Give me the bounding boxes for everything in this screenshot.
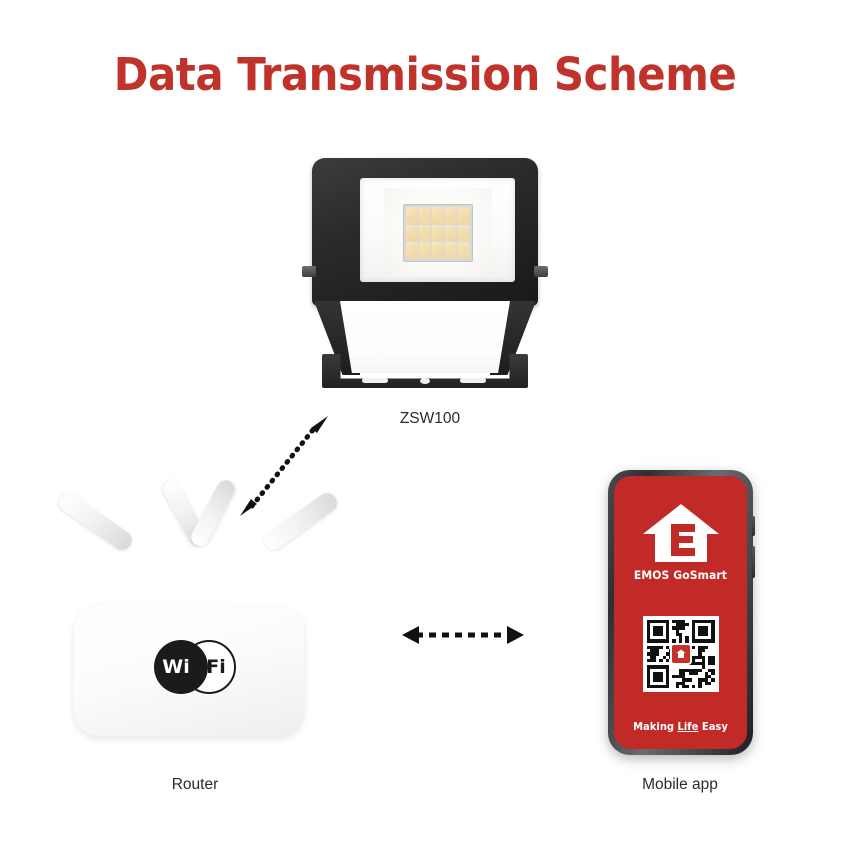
- bracket-slot-center: [420, 378, 430, 384]
- diagram-canvas: Data Transmission Scheme ZSW100: [0, 0, 850, 850]
- router-device: Fi Wi: [38, 528, 348, 768]
- wifi-logo-left-circle: Wi: [154, 640, 208, 694]
- phone-volume-button[interactable]: [752, 516, 755, 536]
- phone-power-button[interactable]: [752, 546, 755, 578]
- floodlight-lens: [360, 178, 515, 282]
- tagline-part-2: Easy: [698, 721, 727, 733]
- page-title: Data Transmission Scheme: [30, 48, 821, 101]
- phone-caption: Mobile app: [600, 776, 760, 794]
- app-name-label: EMOS GoSmart: [618, 568, 743, 582]
- connection-router-to-floodlight: [236, 412, 332, 520]
- floodlight-caption: ZSW100: [330, 410, 530, 428]
- router-antenna-1: [56, 490, 136, 554]
- floodlight-housing: [312, 158, 538, 306]
- floodlight-body-front: [340, 301, 510, 373]
- floodlight-screw-right: [534, 266, 548, 277]
- tagline-part-1: Making: [633, 721, 677, 733]
- floodlight-screw-left: [302, 266, 316, 277]
- connection-router-to-phone: [400, 618, 526, 652]
- floodlight-device: [300, 158, 550, 398]
- mobile-phone-device[interactable]: EMOS GoSmart Making Life Easy: [608, 470, 753, 755]
- floodlight-led-array: [403, 204, 473, 262]
- bracket-slot-right: [460, 378, 486, 383]
- phone-screen[interactable]: EMOS GoSmart Making Life Easy: [614, 476, 747, 749]
- router-caption: Router: [110, 776, 280, 794]
- emos-house-logo-icon: [641, 502, 721, 564]
- qr-code[interactable]: [643, 616, 719, 692]
- tagline-underlined: Life: [678, 721, 699, 733]
- bracket-slot-left: [362, 378, 388, 383]
- qr-center-logo-icon: [670, 643, 692, 665]
- wifi-logo: Fi Wi: [154, 640, 238, 696]
- app-tagline: Making Life Easy: [617, 721, 743, 733]
